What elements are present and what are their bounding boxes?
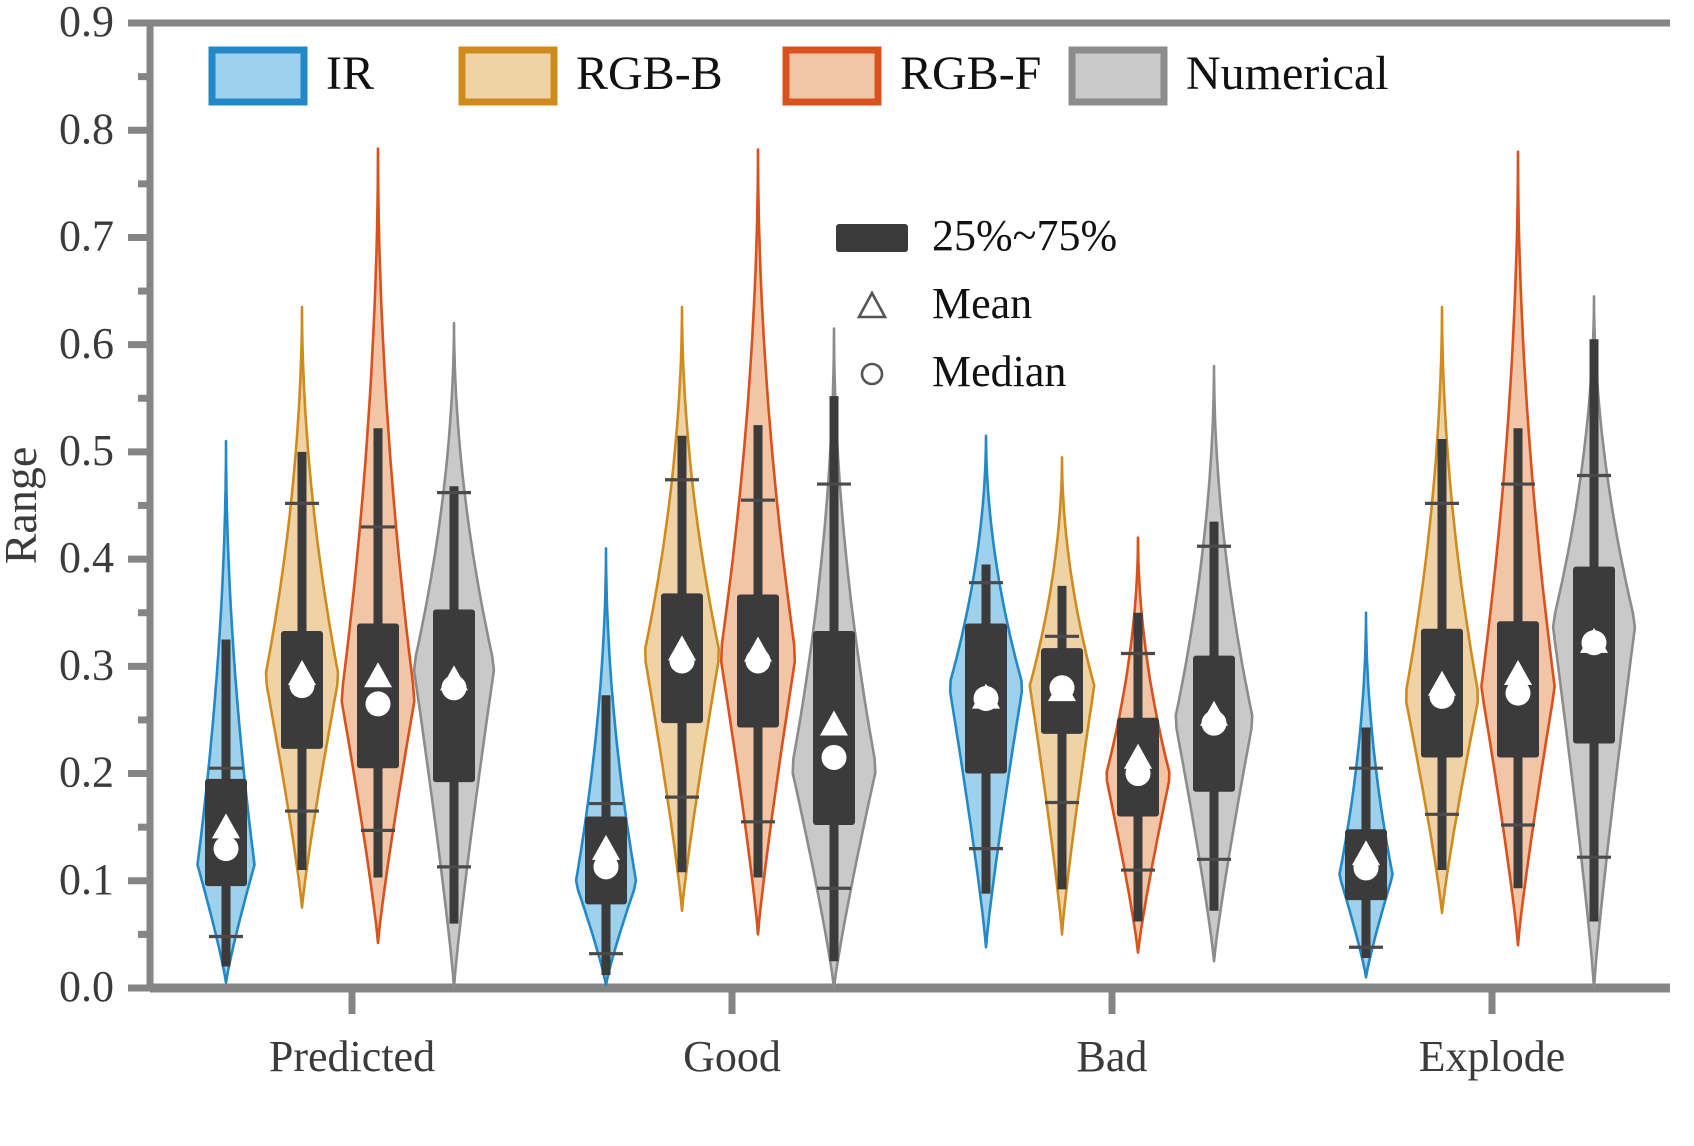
legend-item-rgb-b[interactable]: RGB-B	[462, 47, 723, 102]
marker-legend-label-bar: 25%~75%	[932, 211, 1117, 260]
marker-legend-label-circle: Median	[932, 347, 1066, 396]
violin-predicted-rgb-b	[266, 307, 338, 908]
violin-bad-ir	[950, 436, 1022, 948]
median-marker-circle	[1126, 761, 1151, 786]
violin-predicted-ir	[198, 441, 255, 982]
chart-canvas: 0.00.10.20.30.40.50.60.70.80.9RangePredi…	[0, 0, 1694, 1146]
violin-predicted-rgb-f	[342, 149, 415, 944]
median-marker-circle	[1050, 675, 1075, 700]
y-tick-label: 0.6	[59, 319, 114, 368]
legend-swatch-rgb-f	[786, 50, 878, 102]
y-tick-label: 0.5	[59, 426, 114, 475]
legend-mean-triangle	[859, 293, 885, 317]
violin-explode-rgb-b	[1406, 307, 1477, 913]
violin-explode-ir	[1340, 613, 1393, 978]
violin-plot-figure: 0.00.10.20.30.40.50.60.70.80.9RangePredi…	[0, 0, 1694, 1146]
y-tick-label: 0.9	[59, 0, 114, 46]
legend-swatch-numerical	[1072, 50, 1164, 102]
violin-good-numerical	[793, 329, 876, 988]
violin-good-ir	[576, 548, 636, 984]
violin-bad-numerical	[1176, 366, 1252, 961]
legend-swatch-ir	[212, 50, 304, 102]
violin-group-explode	[1340, 152, 1635, 988]
violin-group-bad	[950, 366, 1252, 961]
legend-label-rgb-f: RGB-F	[900, 47, 1041, 100]
marker-legend-bar: 25%~75%	[836, 211, 1117, 260]
legend-label-rgb-b: RGB-B	[576, 47, 723, 100]
marker-legend-triangle: Mean	[859, 279, 1032, 328]
legend-item-rgb-f[interactable]: RGB-F	[786, 47, 1041, 102]
median-marker-circle	[822, 745, 847, 770]
legend-item-ir[interactable]: IR	[212, 47, 374, 102]
marker-legend-label-triangle: Mean	[932, 279, 1032, 328]
median-marker-circle	[1202, 711, 1227, 736]
median-marker-circle	[214, 836, 239, 861]
legend-item-numerical[interactable]: Numerical	[1072, 47, 1389, 102]
median-marker-circle	[974, 686, 999, 711]
median-marker-circle	[1582, 630, 1607, 655]
x-tick-label-predicted: Predicted	[269, 1032, 435, 1081]
median-marker-circle	[1430, 684, 1455, 709]
y-axis-title: Range	[0, 447, 46, 565]
legend-iqr-bar	[836, 224, 908, 252]
y-tick-label: 0.4	[59, 533, 114, 582]
legend-swatch-rgb-b	[462, 50, 554, 102]
violin-good-rgb-b	[645, 307, 718, 911]
median-marker-circle	[1354, 855, 1379, 880]
violin-good-rgb-f	[721, 150, 795, 935]
y-tick-label: 0.1	[59, 855, 114, 904]
y-tick-label: 0.2	[59, 748, 114, 797]
median-marker-circle	[442, 675, 467, 700]
y-tick-label: 0.7	[59, 212, 114, 261]
violin-explode-numerical	[1553, 296, 1635, 988]
median-marker-circle	[670, 648, 695, 673]
violin-group-predicted	[198, 149, 494, 989]
legend-label-ir: IR	[326, 47, 374, 100]
violin-predicted-numerical	[414, 323, 494, 988]
violin-group-good	[576, 150, 875, 989]
median-marker-circle	[290, 673, 315, 698]
legend-median-circle	[862, 364, 882, 384]
y-tick-label: 0.3	[59, 640, 114, 689]
legend-label-numerical: Numerical	[1186, 47, 1389, 100]
median-marker-circle	[366, 691, 391, 716]
median-marker-circle	[1506, 681, 1531, 706]
violin-explode-rgb-f	[1481, 152, 1554, 945]
x-tick-label-explode: Explode	[1419, 1032, 1566, 1081]
median-marker-circle	[746, 648, 771, 673]
x-tick-label-good: Good	[683, 1032, 781, 1081]
violin-bad-rgb-f	[1107, 538, 1170, 953]
y-tick-label: 0.8	[59, 104, 114, 153]
violin-bad-rgb-b	[1030, 457, 1094, 934]
y-tick-label: 0.0	[59, 962, 114, 1011]
x-tick-label-bad: Bad	[1077, 1032, 1148, 1081]
median-marker-circle	[594, 854, 619, 879]
marker-legend-circle: Median	[862, 347, 1066, 396]
